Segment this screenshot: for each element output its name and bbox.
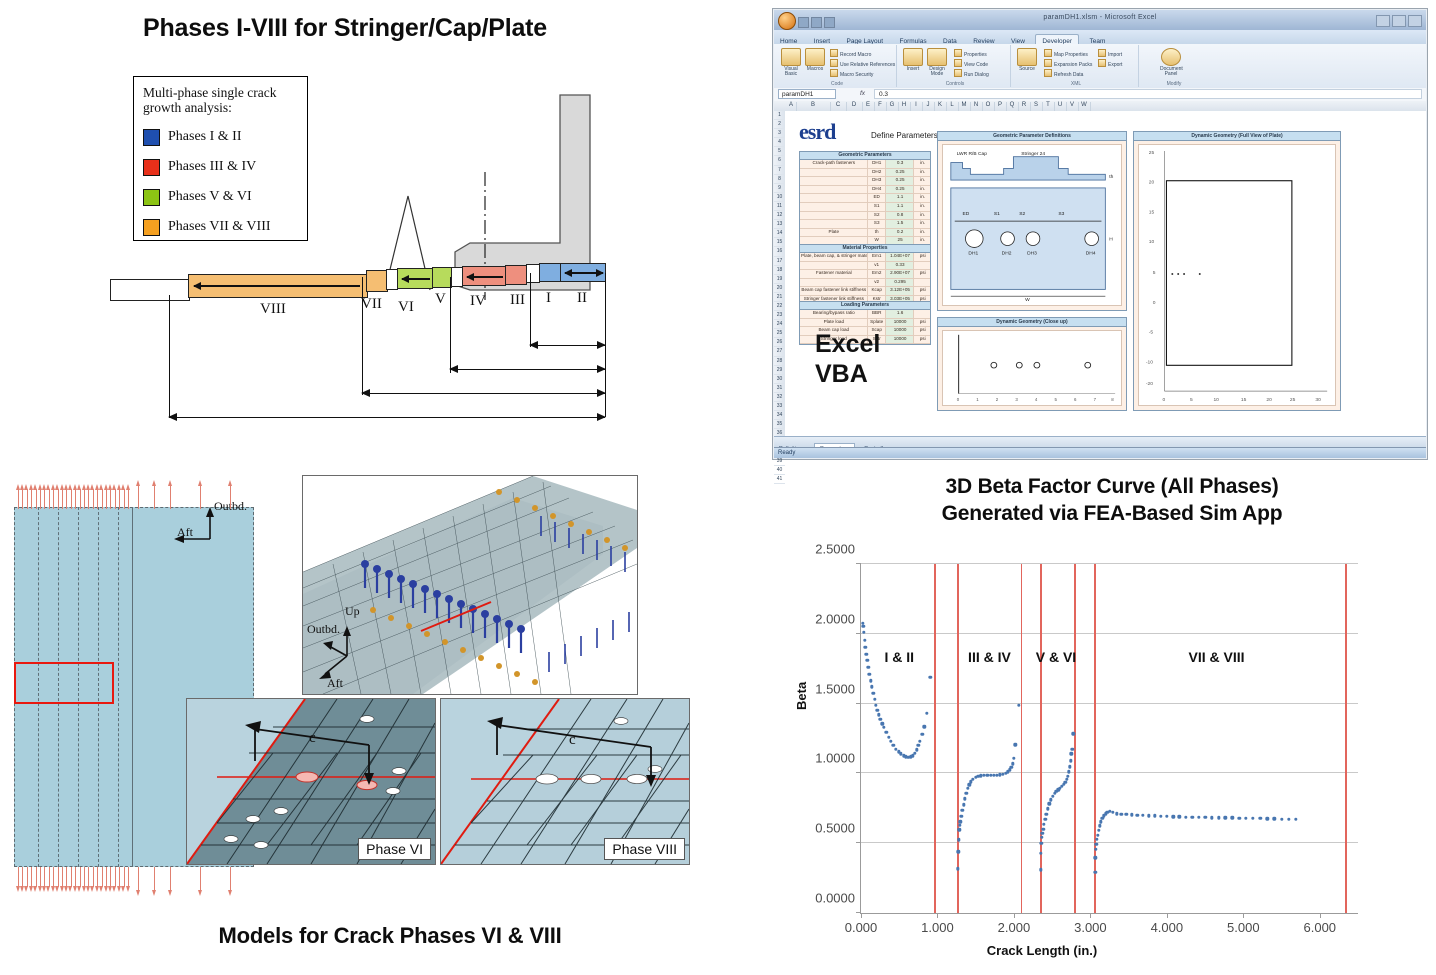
row-header-34[interactable]: 34 xyxy=(774,411,785,420)
geometric-parameters-table: Geometric Parameters Crack-path fastener… xyxy=(799,151,931,256)
param-unit: psi xyxy=(914,270,930,278)
svg-text:DH4: DH4 xyxy=(1086,250,1096,256)
name-box[interactable]: paramDH1 xyxy=(778,89,836,99)
phase-vi-detail-view: c Phase VI xyxy=(186,698,436,865)
load-arrow-bottom-dense xyxy=(119,867,120,887)
ext-line-d xyxy=(530,273,531,347)
geometry-definition-panel: Geometric Parameter Definitions DH1 DH2 … xyxy=(937,131,1127,311)
chart-plot-area: 0.00000.50001.00001.50002.00002.50000.00… xyxy=(860,564,1358,914)
data-point xyxy=(861,624,864,627)
svg-text:DH1: DH1 xyxy=(968,250,978,256)
row-header-12[interactable]: 12 xyxy=(774,211,785,220)
load-arrow-top-dense xyxy=(75,489,76,509)
row-header-11[interactable]: 11 xyxy=(774,202,785,211)
data-point xyxy=(865,659,868,662)
macro-security-icon xyxy=(830,69,838,77)
row-header-26[interactable]: 26 xyxy=(774,338,785,347)
data-point xyxy=(1041,831,1044,834)
param-value[interactable]: 10000 xyxy=(886,319,915,327)
data-point xyxy=(1043,818,1046,821)
load-arrow-top-dense xyxy=(80,489,81,509)
crack-strip: VIII VII VI V IV III I II xyxy=(110,255,580,315)
segment-V xyxy=(432,267,452,288)
param-value[interactable]: 10000 xyxy=(886,327,915,335)
data-point xyxy=(1048,802,1051,805)
load-arrow-top-dense xyxy=(88,489,89,509)
table-row: DH30.25in. xyxy=(800,177,930,186)
geometry-drawing: DH1 DH2 DH3 DH4 ED S1 S2 S3 LWR R/B Cap … xyxy=(942,144,1122,306)
design-mode-icon xyxy=(927,48,947,66)
row-header-25[interactable]: 25 xyxy=(774,329,785,338)
phase-divider-line xyxy=(1094,564,1096,913)
load-arrow-bottom-dense xyxy=(66,867,67,887)
assembly-3d-mesh-view: Up Outbd. Aft xyxy=(302,475,638,695)
data-point xyxy=(925,712,928,715)
data-point xyxy=(887,735,890,738)
x-axis-tick-mark xyxy=(1320,913,1321,918)
data-point xyxy=(863,638,866,641)
design-mode-button[interactable]: Design Mode xyxy=(926,48,948,74)
param-unit xyxy=(914,279,930,287)
dimension-I-II xyxy=(530,345,605,346)
load-arrow-bottom-dense xyxy=(49,867,50,887)
data-point xyxy=(868,673,871,676)
data-point xyxy=(1064,780,1067,783)
data-point xyxy=(1095,838,1098,841)
phase-region-label: I & II xyxy=(884,649,914,665)
overlay-line-1: Excel xyxy=(815,329,880,359)
row-header-32[interactable]: 32 xyxy=(774,393,785,402)
param-symbol: BBR xyxy=(868,310,886,318)
load-arrow-top-dense xyxy=(44,489,45,509)
data-point xyxy=(1010,766,1013,769)
data-point xyxy=(963,797,966,800)
legend-heading: Multi-phase single crack growth analysis… xyxy=(143,85,298,115)
row-header-29[interactable]: 29 xyxy=(774,366,785,375)
load-arrow-bottom-dense xyxy=(110,867,111,887)
data-point xyxy=(1217,816,1220,819)
x-axis-tick-mark xyxy=(1014,913,1015,918)
param-symbol: S3 xyxy=(868,220,886,228)
load-arrow-top-dense xyxy=(40,489,41,509)
row-header-20[interactable]: 20 xyxy=(774,284,785,293)
row-header-13[interactable]: 13 xyxy=(774,220,785,229)
table-row: Plate, beam cap, & stringer materialEm11… xyxy=(800,253,930,262)
svg-text:1: 1 xyxy=(976,397,979,402)
developer-ribbon: Visual Basic Macros Record Macro Use Rel… xyxy=(774,44,1426,89)
ribbon-group-controls: Insert Design Mode Properties View Code … xyxy=(900,45,1011,87)
insert-control-button[interactable]: Insert xyxy=(902,48,924,74)
svg-text:15: 15 xyxy=(1149,209,1155,215)
row-header-8[interactable]: 8 xyxy=(774,175,785,184)
data-point xyxy=(879,717,882,720)
macro-security-button[interactable]: Macro Security xyxy=(830,69,873,78)
row-header-31[interactable]: 31 xyxy=(774,384,785,393)
export-button[interactable]: Export xyxy=(1098,59,1122,68)
param-name: Beam cap fastener link stiffness xyxy=(800,287,868,295)
param-value[interactable]: 1.1 xyxy=(886,203,915,211)
x-axis-tick-mark xyxy=(1090,913,1091,918)
growth-arrow-VI xyxy=(402,278,430,280)
segment-I xyxy=(539,263,561,282)
data-point xyxy=(920,733,923,736)
x-axis-tick-label: 0.000 xyxy=(845,920,878,935)
row-header-28[interactable]: 28 xyxy=(774,357,785,366)
param-value[interactable]: 0.295 xyxy=(886,279,915,287)
row-header-4[interactable]: 4 xyxy=(774,138,785,147)
load-arrow-top xyxy=(200,485,201,509)
phase-region-label: VII & VIII xyxy=(1189,649,1245,665)
chart-title: 3D Beta Factor Curve (All Phases) Genera… xyxy=(832,473,1392,527)
svg-text:25: 25 xyxy=(1149,150,1155,156)
svg-text:30: 30 xyxy=(1315,397,1321,403)
param-unit: psi xyxy=(914,253,930,261)
param-unit: psi xyxy=(914,336,930,344)
x-axis-tick-label: 4.000 xyxy=(1151,920,1184,935)
param-name xyxy=(800,186,868,194)
chart-title-line-2: Generated via FEA-Based Sim App xyxy=(832,500,1392,527)
import-button[interactable]: Import xyxy=(1098,49,1122,58)
mesh-axis-label-outbd: Outbd. xyxy=(307,622,340,637)
load-arrow-bottom-dense xyxy=(80,867,81,887)
legend-swatch-phase-5-6 xyxy=(143,189,160,206)
load-arrow-bottom-dense xyxy=(31,867,32,887)
data-point xyxy=(960,814,963,817)
param-symbol: v2 xyxy=(868,279,886,287)
macros-button[interactable]: Macros xyxy=(804,48,826,74)
load-arrow-top-dense xyxy=(27,489,28,509)
formula-bar: paramDH1 fx 0.3 xyxy=(774,88,1426,102)
param-value[interactable]: 0.3 xyxy=(886,160,915,168)
load-arrow-top-dense xyxy=(106,489,107,509)
param-symbol: DH3 xyxy=(868,177,886,185)
load-arrow-bottom-dense xyxy=(27,867,28,887)
load-arrow-top-dense xyxy=(115,489,116,509)
data-point xyxy=(1231,816,1234,819)
data-point xyxy=(1210,816,1213,819)
expansion-packs-icon xyxy=(1044,59,1052,67)
export-icon xyxy=(1098,59,1106,67)
param-symbol: v1 xyxy=(868,262,886,270)
data-point xyxy=(1159,814,1162,817)
data-point xyxy=(1098,824,1101,827)
data-point xyxy=(1224,816,1227,819)
panel-c-caption: Models for Crack Phases VI & VIII xyxy=(0,923,780,949)
xml-source-button[interactable]: Source xyxy=(1016,48,1038,74)
x-axis-tick-mark xyxy=(861,913,862,918)
table-row: S20.8in. xyxy=(800,212,930,221)
view-code-button[interactable]: View Code xyxy=(954,59,988,68)
svg-text:DH3: DH3 xyxy=(1027,250,1037,256)
load-arrow-top-dense xyxy=(124,489,125,509)
data-point xyxy=(869,679,872,682)
param-value[interactable]: 1.1 xyxy=(886,194,915,202)
window-title: paramDH1.xlsm - Microsoft Excel xyxy=(774,14,1426,21)
segment-label-IV: IV xyxy=(470,293,486,310)
load-arrow-top xyxy=(154,485,155,509)
x-axis-tick-mark xyxy=(1167,913,1168,918)
full-plate-chart: 25 20 15 10 5 0 -5 -10 -20 0 5 10 15 20 … xyxy=(1138,144,1336,406)
param-value[interactable]: 0.8 xyxy=(886,212,915,220)
growth-arrow-II xyxy=(565,272,603,274)
param-value[interactable]: 3.12E+05 xyxy=(886,287,915,295)
row-header-9[interactable]: 9 xyxy=(774,184,785,193)
data-point xyxy=(966,787,969,790)
param-name: Bearing/bypass ratio xyxy=(800,310,868,318)
map-properties-button[interactable]: Map Properties xyxy=(1044,49,1088,58)
insert-control-icon xyxy=(903,48,923,66)
data-point xyxy=(1096,833,1099,836)
param-value[interactable]: 0.25 xyxy=(886,169,915,177)
load-arrow-top-dense xyxy=(66,489,67,509)
data-point xyxy=(1178,815,1181,818)
row-header-1[interactable]: 1 xyxy=(774,111,785,120)
table-row: Crack-path fastenersDH10.3in. xyxy=(800,160,930,169)
data-point xyxy=(1095,842,1098,845)
load-arrow-top-dense xyxy=(62,489,63,509)
column-header-c[interactable]: C xyxy=(830,102,847,111)
data-point xyxy=(1204,816,1207,819)
y-axis-tick-mark xyxy=(856,772,861,773)
load-arrow-bottom-dense xyxy=(18,867,19,887)
param-name xyxy=(800,177,868,185)
properties-button[interactable]: Properties xyxy=(954,49,987,58)
row-header-14[interactable]: 14 xyxy=(774,229,785,238)
data-point xyxy=(889,740,892,743)
table-row: Beam cap fastener link stiffnessKcap3.12… xyxy=(800,287,930,296)
svg-text:20: 20 xyxy=(1149,180,1155,186)
param-value[interactable]: 10000 xyxy=(886,336,915,344)
worksheet[interactable]: esrd Define Parameters Geometric Paramet… xyxy=(785,111,1426,437)
segment-label-VIII: VIII xyxy=(260,301,286,318)
data-point xyxy=(1265,817,1268,820)
data-point xyxy=(1097,829,1100,832)
row-header-18[interactable]: 18 xyxy=(774,266,785,275)
data-point xyxy=(1184,815,1187,818)
load-arrow-bottom-dense xyxy=(106,867,107,887)
param-unit: in. xyxy=(914,220,930,228)
data-point xyxy=(864,645,867,648)
ribbon-group-label: Controls xyxy=(900,81,1010,87)
row-header-3[interactable]: 3 xyxy=(774,129,785,138)
data-point xyxy=(959,820,962,823)
param-name: Plate load xyxy=(800,319,868,327)
load-arrow-bottom-dense xyxy=(44,867,45,887)
column-header-b[interactable]: B xyxy=(796,102,831,111)
load-arrow-bottom-dense xyxy=(75,867,76,887)
record-macro-icon xyxy=(830,49,838,57)
data-point xyxy=(1039,851,1042,854)
phase-viii-detail-view: c Phase VIII xyxy=(440,698,690,865)
import-icon xyxy=(1098,49,1106,57)
ribbon-group-label: Code xyxy=(778,81,896,87)
segment-III xyxy=(505,265,527,285)
legend-label: Phases VII & VIII xyxy=(168,219,271,235)
row-header-17[interactable]: 17 xyxy=(774,257,785,266)
param-symbol: Kcap xyxy=(868,287,886,295)
table-row: Fastener materialEm22.90E+07psi xyxy=(800,270,930,279)
param-unit: in. xyxy=(914,177,930,185)
relative-reference-icon xyxy=(830,59,838,67)
param-value[interactable]: 1.6 xyxy=(886,310,915,318)
fx-icon: fx xyxy=(860,90,865,97)
data-point xyxy=(1041,828,1044,831)
param-value[interactable]: 0.25 xyxy=(886,177,915,185)
row-header-24[interactable]: 24 xyxy=(774,320,785,329)
ext-line-a xyxy=(169,295,170,417)
data-point xyxy=(1042,823,1045,826)
row-header-21[interactable]: 21 xyxy=(774,293,785,302)
view-code-icon xyxy=(954,59,962,67)
row-header-5[interactable]: 5 xyxy=(774,147,785,156)
y-axis-tick-mark xyxy=(856,563,861,564)
ext-line-c xyxy=(450,277,451,373)
param-value[interactable]: 0.25 xyxy=(886,186,915,194)
load-arrow-bottom-dense xyxy=(124,867,125,887)
segment-label-VI: VI xyxy=(398,299,414,316)
phase-region-label: III & IV xyxy=(968,649,1011,665)
data-point xyxy=(1273,817,1276,820)
load-arrow-bottom xyxy=(138,867,139,891)
param-value[interactable]: 1.04E+07 xyxy=(886,253,915,261)
row-header-7[interactable]: 7 xyxy=(774,166,785,175)
svg-text:7: 7 xyxy=(1094,397,1097,402)
visual-basic-button[interactable]: Visual Basic xyxy=(780,48,802,74)
stringer-cap-cross-section xyxy=(0,0,760,465)
phase-divider-line xyxy=(1074,564,1076,913)
param-unit: in. xyxy=(914,229,930,237)
param-symbol: DH2 xyxy=(868,169,886,177)
x-axis-tick-label: 2.000 xyxy=(998,920,1031,935)
refresh-data-button[interactable]: Refresh Data xyxy=(1044,69,1083,78)
relative-references-button[interactable]: Use Relative References xyxy=(830,59,895,68)
dimension-III-IV xyxy=(450,369,605,370)
data-point xyxy=(882,726,885,729)
record-macro-button[interactable]: Record Macro xyxy=(830,49,871,58)
row-header-33[interactable]: 33 xyxy=(774,402,785,411)
param-unit: psi xyxy=(914,327,930,335)
growth-arrow-VIII xyxy=(194,285,360,287)
ribbon-tab-strip[interactable]: Home Insert Page Layout Formulas Data Re… xyxy=(774,30,1426,45)
data-point xyxy=(1039,868,1042,871)
row-header-2[interactable]: 2 xyxy=(774,120,785,129)
svg-text:20: 20 xyxy=(1266,397,1272,403)
x-axis-tick-label: 3.000 xyxy=(1074,920,1107,935)
row-header-22[interactable]: 22 xyxy=(774,302,785,311)
phase-vi-label: Phase VI xyxy=(358,838,431,860)
table-title: Loading Parameters xyxy=(800,302,930,310)
data-point xyxy=(874,703,877,706)
data-point xyxy=(1046,807,1049,810)
table-row: S11.1in. xyxy=(800,203,930,212)
param-value[interactable]: 2.90E+07 xyxy=(886,270,915,278)
param-unit: in. xyxy=(914,203,930,211)
data-point xyxy=(877,713,880,716)
data-point xyxy=(885,731,888,734)
data-point xyxy=(1045,812,1048,815)
run-dialog-icon xyxy=(954,69,962,77)
param-symbol: Em1 xyxy=(868,253,886,261)
load-arrow-top-dense xyxy=(71,489,72,509)
legend-swatch-phase-3-4 xyxy=(143,159,160,176)
svg-text:15: 15 xyxy=(1241,397,1247,403)
param-name xyxy=(800,169,868,177)
load-arrow-bottom xyxy=(170,867,171,891)
data-point xyxy=(876,708,879,711)
y-axis-tick-label: 2.5000 xyxy=(815,542,855,557)
expansion-packs-button[interactable]: Expansion Packs xyxy=(1044,59,1092,68)
row-header-16[interactable]: 16 xyxy=(774,247,785,256)
param-value[interactable]: 0.33 xyxy=(886,262,915,270)
table-title: Material Properties xyxy=(800,245,930,253)
panel-title: Dynamic Geometry (Close up) xyxy=(938,318,1126,327)
dynamic-geometry-full-panel: Dynamic Geometry (Full View of Plate) 25… xyxy=(1133,131,1341,411)
data-point xyxy=(1065,778,1068,781)
svg-text:S2: S2 xyxy=(1019,211,1025,217)
param-symbol: Em2 xyxy=(868,270,886,278)
svg-text:6: 6 xyxy=(1074,397,1077,402)
param-value[interactable]: 1.5 xyxy=(886,220,915,228)
svg-text:-10: -10 xyxy=(1146,359,1153,365)
excel-vba-screenshot: paramDH1.xlsm - Microsoft Excel Home Ins… xyxy=(772,8,1428,460)
data-point xyxy=(957,850,960,853)
growth-arrow-IV xyxy=(467,276,503,278)
param-value[interactable]: 0.2 xyxy=(886,229,915,237)
ribbon-group-code: Visual Basic Macros Record Macro Use Rel… xyxy=(778,45,897,87)
table-row: S31.5in. xyxy=(800,220,930,229)
table-row: DH40.25in. xyxy=(800,186,930,195)
segment-label-III: III xyxy=(510,292,525,309)
table-body: Crack-path fastenersDH10.3in.DH20.25in.D… xyxy=(800,160,930,255)
row-header-27[interactable]: 27 xyxy=(774,347,785,356)
row-header-30[interactable]: 30 xyxy=(774,375,785,384)
row-header-6[interactable]: 6 xyxy=(774,156,785,165)
segment-label-V: V xyxy=(435,291,446,308)
fea-models-panel: Outbd. Aft xyxy=(0,465,760,975)
row-header-15[interactable]: 15 xyxy=(774,238,785,247)
load-arrow-top xyxy=(230,485,231,509)
data-point xyxy=(957,838,960,841)
phase-divider-line xyxy=(1345,564,1347,913)
load-arrow-bottom xyxy=(154,867,155,891)
row-header-10[interactable]: 10 xyxy=(774,193,785,202)
load-arrow-top-dense xyxy=(119,489,120,509)
row-header-35[interactable]: 35 xyxy=(774,420,785,429)
map-properties-icon xyxy=(1044,49,1052,57)
data-point xyxy=(866,666,869,669)
data-point xyxy=(1008,768,1011,771)
data-point xyxy=(1120,812,1123,815)
data-point xyxy=(872,691,875,694)
svg-text:S3: S3 xyxy=(1058,211,1064,217)
data-point xyxy=(1141,814,1144,817)
column-header-d[interactable]: D xyxy=(846,102,863,111)
run-dialog-button[interactable]: Run Dialog xyxy=(954,69,989,78)
row-header-23[interactable]: 23 xyxy=(774,311,785,320)
data-point xyxy=(923,725,926,728)
param-name xyxy=(800,262,868,270)
row-header-19[interactable]: 19 xyxy=(774,275,785,284)
load-arrow-bottom-dense xyxy=(62,867,63,887)
formula-input[interactable]: 0.3 xyxy=(874,89,1422,99)
svg-text:th: th xyxy=(1109,174,1113,180)
beta-factor-chart-panel: 3D Beta Factor Curve (All Phases) Genera… xyxy=(772,465,1436,975)
load-arrow-bottom-dense xyxy=(22,867,23,887)
data-point xyxy=(1099,820,1102,823)
document-panel-button[interactable]: Document Panel xyxy=(1160,48,1182,74)
y-axis-tick-label: 2.0000 xyxy=(815,611,855,626)
column-header-w[interactable]: W xyxy=(1078,102,1091,111)
